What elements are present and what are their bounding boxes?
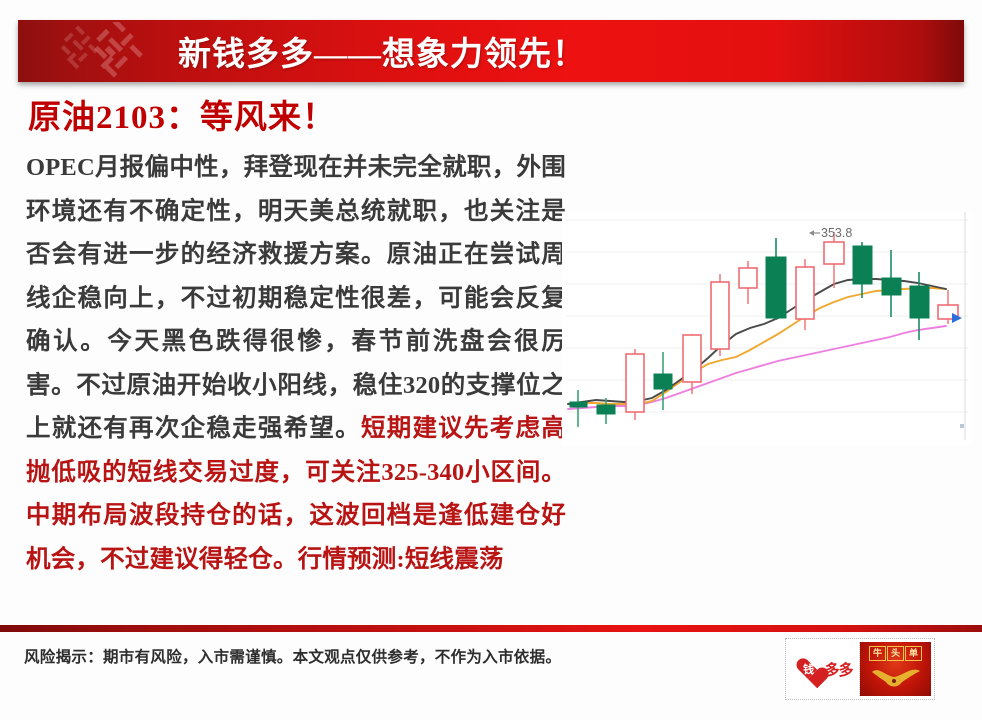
logo-niutoudan-char-0: 牛	[869, 646, 886, 661]
candle-2	[626, 349, 644, 420]
bull-head-icon	[868, 662, 924, 692]
footer-divider	[0, 625, 982, 632]
footer-logos: 钱 多多 牛 头 单	[785, 638, 935, 700]
chart-background	[562, 212, 972, 446]
logo-qianduoduo-heart-char: 钱	[795, 661, 821, 677]
slide-page: 新钱多多——想象力领先！ 原油2103：等风来！ OPEC月报偏中性，拜登现在并…	[0, 0, 982, 720]
candle-8	[796, 259, 814, 330]
article-body: OPEC月报偏中性，拜登现在并未完全就职，外围环境还有不确定性，明天美总统就职，…	[26, 146, 566, 581]
logo-niutoudan-chars: 牛 头 单	[869, 646, 922, 661]
logo-niutoudan-char-2: 单	[905, 646, 922, 661]
page-title: 原油2103：等风来！	[28, 90, 336, 138]
article-paragraph-normal: OPEC月报偏中性，拜登现在并未完全就职，外围环境还有不确定性，明天美总统就职，…	[26, 154, 566, 442]
header-banner: 新钱多多——想象力领先！	[18, 20, 964, 82]
diamond-knot-emblem-icon	[46, 22, 166, 80]
chart-svg: 353.8	[562, 212, 972, 446]
candlestick-chart[interactable]: 353.8	[562, 212, 972, 446]
price-annotation-label: 353.8	[821, 226, 852, 240]
logo-niutoudan-char-1: 头	[887, 646, 904, 661]
header-title: 新钱多多——想象力领先！	[178, 27, 586, 75]
logo-niutoudan: 牛 头 单	[860, 642, 931, 696]
heart-icon: 钱	[795, 657, 821, 681]
candle-5	[711, 274, 729, 356]
logo-qianduoduo: 钱 多多	[789, 642, 860, 696]
logo-qianduoduo-text: 多多	[824, 659, 852, 680]
axis-end-tick	[960, 424, 964, 428]
footer-disclaimer: 风险揭示：期市有风险，入市需谨慎。本文观点仅供参考，不作为入市依据。	[24, 645, 561, 667]
